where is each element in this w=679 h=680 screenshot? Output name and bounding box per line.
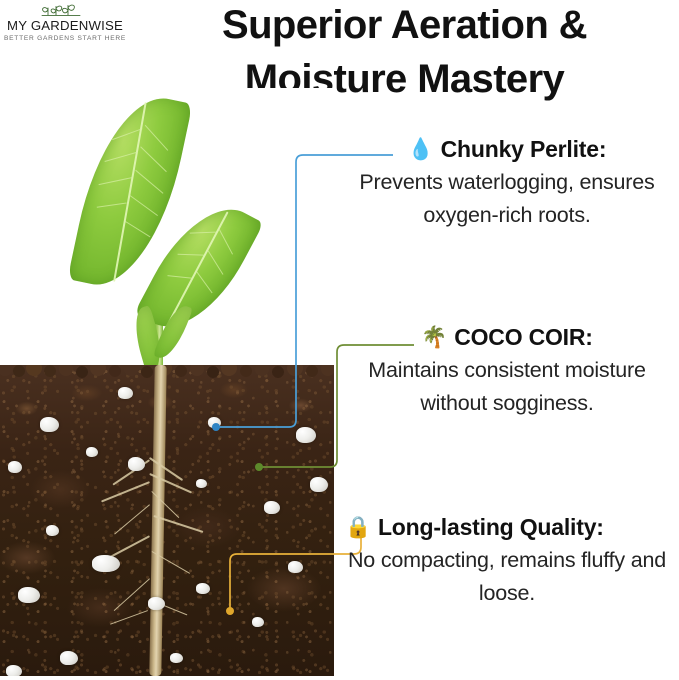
title-line-1: Superior Aeration & bbox=[132, 0, 677, 52]
palm-tree-icon: 🌴 bbox=[421, 327, 447, 348]
perlite-chunk bbox=[60, 651, 78, 665]
seedling-row-icon bbox=[4, 2, 126, 18]
infographic-canvas: MY GARDENWISE BETTER GARDENS START HERE … bbox=[0, 0, 679, 680]
feature-heading-row: 🌴 COCO COIR: bbox=[335, 322, 679, 352]
leaf-vein bbox=[97, 203, 127, 208]
perlite-chunk bbox=[128, 457, 145, 471]
feature-heading-row: 🔒 Long-lasting Quality: bbox=[335, 512, 679, 542]
leaf-vein bbox=[208, 251, 224, 275]
perlite-chunk bbox=[196, 479, 207, 488]
leaf-vein bbox=[196, 272, 212, 294]
perlite-chunk bbox=[40, 417, 59, 432]
feature-coco-coir: 🌴 COCO COIR: Maintains consistent moistu… bbox=[335, 322, 679, 420]
product-photo bbox=[0, 88, 334, 676]
perlite-chunk bbox=[170, 653, 183, 663]
feature-heading: Long-lasting Quality: bbox=[378, 512, 604, 542]
brand-logo: MY GARDENWISE BETTER GARDENS START HERE bbox=[4, 2, 126, 44]
perlite-chunk bbox=[288, 561, 303, 573]
leaf-vein bbox=[124, 221, 150, 238]
feature-heading: COCO COIR: bbox=[454, 322, 593, 352]
feature-body: Maintains consistent moisture without so… bbox=[335, 354, 679, 420]
perlite-chunk bbox=[252, 617, 264, 627]
perlite-chunk bbox=[196, 583, 210, 594]
soil-cross-section bbox=[0, 365, 334, 676]
soil-surface-crumb bbox=[0, 365, 334, 378]
leaf-vein bbox=[178, 254, 204, 256]
leaf-vein bbox=[105, 152, 138, 162]
perlite-chunk bbox=[296, 427, 316, 443]
feature-body: Prevents waterlogging, ensures oxygen-ri… bbox=[335, 166, 679, 232]
perlite-chunk bbox=[6, 665, 22, 676]
brand-tagline: BETTER GARDENS START HERE bbox=[4, 34, 126, 44]
leaf-vein bbox=[145, 125, 168, 151]
perlite-chunk bbox=[118, 387, 133, 399]
leaf-vein bbox=[219, 229, 233, 254]
feature-heading: Chunky Perlite: bbox=[441, 134, 607, 164]
perlite-chunk bbox=[208, 417, 221, 428]
perlite-chunk bbox=[310, 477, 328, 492]
leaf-vein bbox=[99, 177, 132, 185]
feature-heading-row: 💧 Chunky Perlite: bbox=[335, 134, 679, 164]
perlite-chunk bbox=[92, 555, 120, 572]
perlite-chunk bbox=[264, 501, 280, 514]
leaf-vein bbox=[140, 146, 167, 172]
feature-long-lasting-quality: 🔒 Long-lasting Quality: No compacting, r… bbox=[335, 512, 679, 610]
feature-chunky-perlite: 💧 Chunky Perlite: Prevents waterlogging,… bbox=[335, 134, 679, 232]
leaf-vein bbox=[167, 275, 191, 279]
feature-body: No compacting, remains fluffy and loose. bbox=[335, 544, 679, 610]
perlite-chunk bbox=[18, 587, 40, 603]
leaf-vein bbox=[130, 195, 158, 216]
leaf-vein bbox=[135, 170, 163, 194]
padlock-icon: 🔒 bbox=[345, 517, 371, 538]
perlite-chunk bbox=[46, 525, 59, 536]
brand-name: MY GARDENWISE bbox=[4, 18, 126, 33]
perlite-chunk bbox=[148, 597, 165, 610]
water-droplet-icon: 💧 bbox=[408, 139, 434, 160]
perlite-chunk bbox=[8, 461, 22, 473]
perlite-chunk bbox=[86, 447, 98, 457]
leaf-vein bbox=[190, 232, 216, 234]
